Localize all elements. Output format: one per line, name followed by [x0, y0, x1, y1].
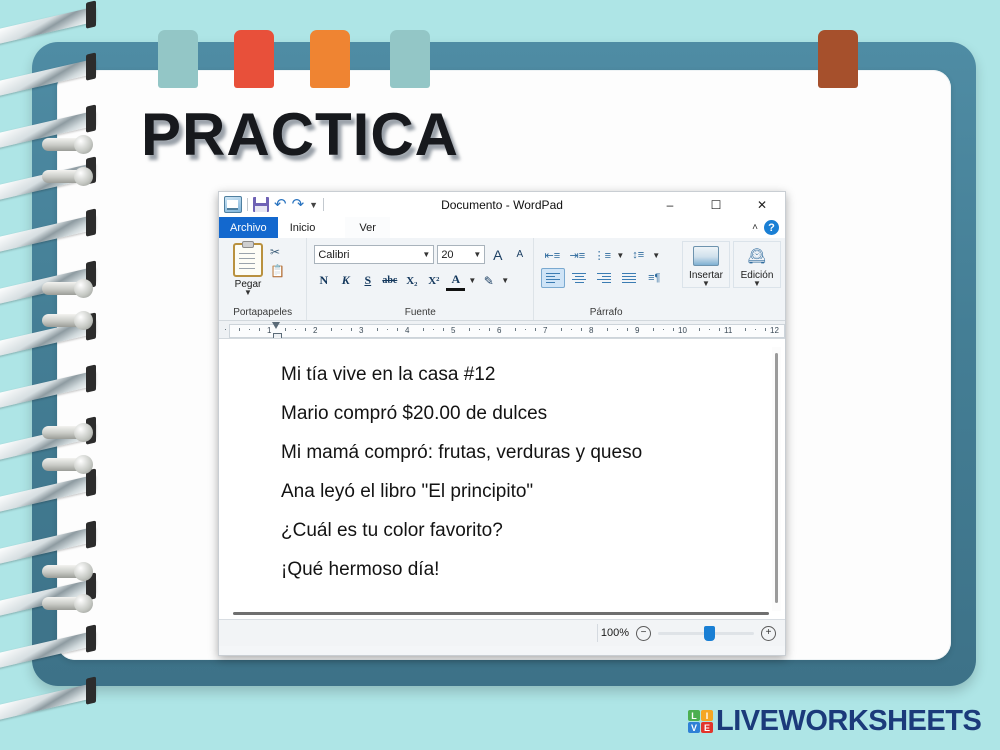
subscript-button[interactable]: X₂	[402, 272, 421, 290]
binoculars-icon: 🕰	[744, 245, 770, 267]
paragraph-marks-icon[interactable]: ≡¶	[643, 269, 665, 287]
ruler[interactable]: 1 2 3 4 5 6 7 8 9 10 11 12	[219, 321, 785, 339]
zoom-slider-thumb[interactable]	[704, 626, 715, 641]
document-canvas[interactable]: Mi tía vive en la casa #12 Mario compró …	[219, 339, 785, 619]
text-color-button[interactable]: A	[446, 270, 465, 291]
zoom-slider[interactable]	[658, 632, 754, 635]
help-icon[interactable]: ?	[764, 220, 779, 235]
document-line: Ana leyó el libro "El principito"	[281, 472, 785, 511]
live-square-v: V	[688, 722, 700, 733]
clipboard-side-buttons: ✂ 📋	[270, 241, 285, 278]
minimize-button[interactable]: –	[647, 192, 693, 217]
divider	[247, 198, 248, 211]
chevron-down-icon[interactable]: ▼	[616, 251, 624, 260]
live-squares: L I V E	[688, 710, 713, 733]
bookmark-tab-red	[234, 30, 274, 88]
group-insert-edit: Insertar ▼ 🕰 Edición ▼	[678, 238, 785, 320]
undo-icon[interactable]: ↶	[274, 197, 287, 212]
wordpad-window: ↶ ↷ ▼ Documento - WordPad – ☐ ✕ Archivo …	[218, 191, 786, 656]
clipboard-icon	[233, 243, 263, 277]
maximize-button[interactable]: ☐	[693, 192, 739, 217]
font-name-select[interactable]: Calibri ▼	[314, 245, 434, 264]
edicion-button[interactable]: 🕰 Edición ▼	[733, 241, 781, 288]
binding-ring	[42, 597, 88, 610]
page-title: PRACTICA	[141, 100, 459, 169]
align-justify-icon[interactable]	[618, 269, 640, 287]
vertical-scrollbar[interactable]	[772, 347, 781, 611]
horizontal-scrollbar-thumb[interactable]	[233, 612, 769, 615]
tab-ver[interactable]: Ver	[345, 217, 390, 238]
binding-ring	[42, 565, 88, 578]
live-square-l: L	[688, 710, 700, 721]
divider	[323, 198, 324, 211]
live-square-i: I	[701, 710, 713, 721]
increase-indent-icon[interactable]: ⇥≡	[566, 246, 588, 264]
align-center-icon[interactable]	[568, 269, 590, 287]
spiral-binding	[0, 0, 118, 750]
align-justify-glyph	[622, 273, 636, 284]
chevron-down-icon[interactable]: ▼	[702, 281, 710, 287]
font-size-value: 20	[441, 249, 453, 261]
scissors-icon[interactable]: ✂	[270, 245, 285, 259]
ribbon-tab-strip: Archivo Inicio Ver ˄ ?	[219, 217, 785, 238]
document-line: ¿Cuál es tu color favorito?	[281, 511, 785, 550]
liveworksheets-wordmark: LIVEWORKSHEETS	[716, 707, 981, 736]
horizontal-scrollbar[interactable]	[233, 608, 769, 617]
status-bar: 100% − +	[219, 619, 785, 646]
first-line-indent-marker[interactable]	[272, 322, 281, 337]
ribbon: Pegar ▼ ✂ 📋 Portapapeles Calibri ▼ 20 ▼ …	[219, 238, 785, 321]
bold-button[interactable]: N	[314, 272, 333, 290]
insertar-button[interactable]: Insertar ▼	[682, 241, 730, 288]
close-button[interactable]: ✕	[739, 192, 785, 217]
align-left-icon[interactable]	[541, 268, 565, 288]
binding-ring	[42, 314, 88, 327]
italic-button[interactable]: K	[336, 272, 355, 290]
font-name-value: Calibri	[318, 249, 349, 261]
align-left-glyph	[546, 273, 560, 284]
redo-icon[interactable]: ↷	[292, 197, 305, 212]
chevron-down-icon[interactable]: ▼	[244, 290, 252, 296]
copy-icon[interactable]: 📋	[270, 264, 285, 278]
group-fuente: Calibri ▼ 20 ▼ A A N K S abc X₂ X² A ▼ ✎	[306, 238, 533, 320]
group-parrafo: ⇤≡ ⇥≡ ⋮≡ ▼ ↕≡ ▼	[533, 238, 678, 320]
chevron-down-icon[interactable]: ▼	[309, 200, 318, 210]
grow-font-button[interactable]: A	[488, 246, 507, 264]
divider	[597, 624, 598, 642]
decrease-indent-icon[interactable]: ⇤≡	[541, 246, 563, 264]
tab-archivo[interactable]: Archivo	[219, 217, 278, 238]
chevron-down-icon[interactable]: ▼	[468, 276, 476, 285]
document-line: Mario compró $20.00 de dulces	[281, 394, 785, 433]
group-label-parrafo: Párrafo	[534, 307, 678, 318]
strikethrough-button[interactable]: abc	[380, 272, 399, 290]
save-icon[interactable]	[253, 197, 269, 212]
group-label-portapapeles: Portapapeles	[219, 307, 306, 318]
chevron-down-icon[interactable]: ▼	[501, 276, 509, 285]
binding-ring	[42, 458, 88, 471]
quick-access-toolbar: ↶ ↷ ▼	[219, 196, 324, 213]
ribbon-right-controls: ˄ ?	[752, 217, 785, 238]
align-center-glyph	[572, 273, 586, 284]
bookmark-tab-orange	[310, 30, 350, 88]
bookmark-tab-teal-1	[158, 30, 198, 88]
superscript-button[interactable]: X²	[424, 272, 443, 290]
chevron-down-icon[interactable]: ▼	[473, 250, 481, 259]
window-titlebar: ↶ ↷ ▼ Documento - WordPad – ☐ ✕	[219, 192, 785, 217]
zoom-out-button[interactable]: −	[636, 626, 651, 641]
line-spacing-icon[interactable]: ↕≡	[627, 246, 649, 264]
group-label-fuente: Fuente	[307, 307, 533, 318]
document-line: Mi tía vive en la casa #12	[281, 355, 785, 394]
highlighter-icon[interactable]: ✎	[479, 272, 498, 290]
chevron-down-icon[interactable]: ▼	[753, 281, 761, 287]
underline-button[interactable]: S	[358, 272, 377, 290]
chevron-up-icon[interactable]: ˄	[752, 222, 758, 233]
bookmark-tab-brown	[818, 30, 858, 88]
align-right-glyph	[597, 273, 611, 284]
group-portapapeles: Pegar ▼ ✂ 📋 Portapapeles	[219, 238, 306, 320]
document-text[interactable]: Mi tía vive en la casa #12 Mario compró …	[219, 339, 785, 589]
live-square-e: E	[701, 722, 713, 733]
paste-button[interactable]: Pegar ▼	[226, 241, 270, 296]
chevron-down-icon[interactable]: ▼	[652, 251, 660, 260]
zoom-level: 100%	[601, 627, 629, 639]
document-line: Mi mamá compró: frutas, verduras y queso	[281, 433, 785, 472]
align-right-icon[interactable]	[593, 269, 615, 287]
window-controls: – ☐ ✕	[647, 192, 785, 217]
bookmark-tab-teal-2	[390, 30, 430, 88]
shrink-font-button[interactable]: A	[510, 246, 529, 264]
binding-ring	[42, 138, 88, 151]
binding-ring	[42, 282, 88, 295]
wordpad-icon[interactable]	[224, 196, 242, 213]
vertical-scrollbar-thumb[interactable]	[775, 353, 778, 603]
resize-grip[interactable]	[773, 635, 783, 645]
binding-ring	[42, 170, 88, 183]
document-line: ¡Qué hermoso día!	[281, 550, 785, 589]
binding-ring	[42, 426, 88, 439]
chevron-down-icon[interactable]: ▼	[422, 250, 430, 259]
tab-inicio[interactable]: Inicio	[278, 217, 328, 238]
bullet-list-icon[interactable]: ⋮≡	[591, 246, 613, 264]
font-size-select[interactable]: 20 ▼	[437, 245, 485, 264]
liveworksheets-logo: L I V E LIVEWORKSHEETS	[688, 707, 981, 736]
picture-icon	[693, 245, 719, 267]
